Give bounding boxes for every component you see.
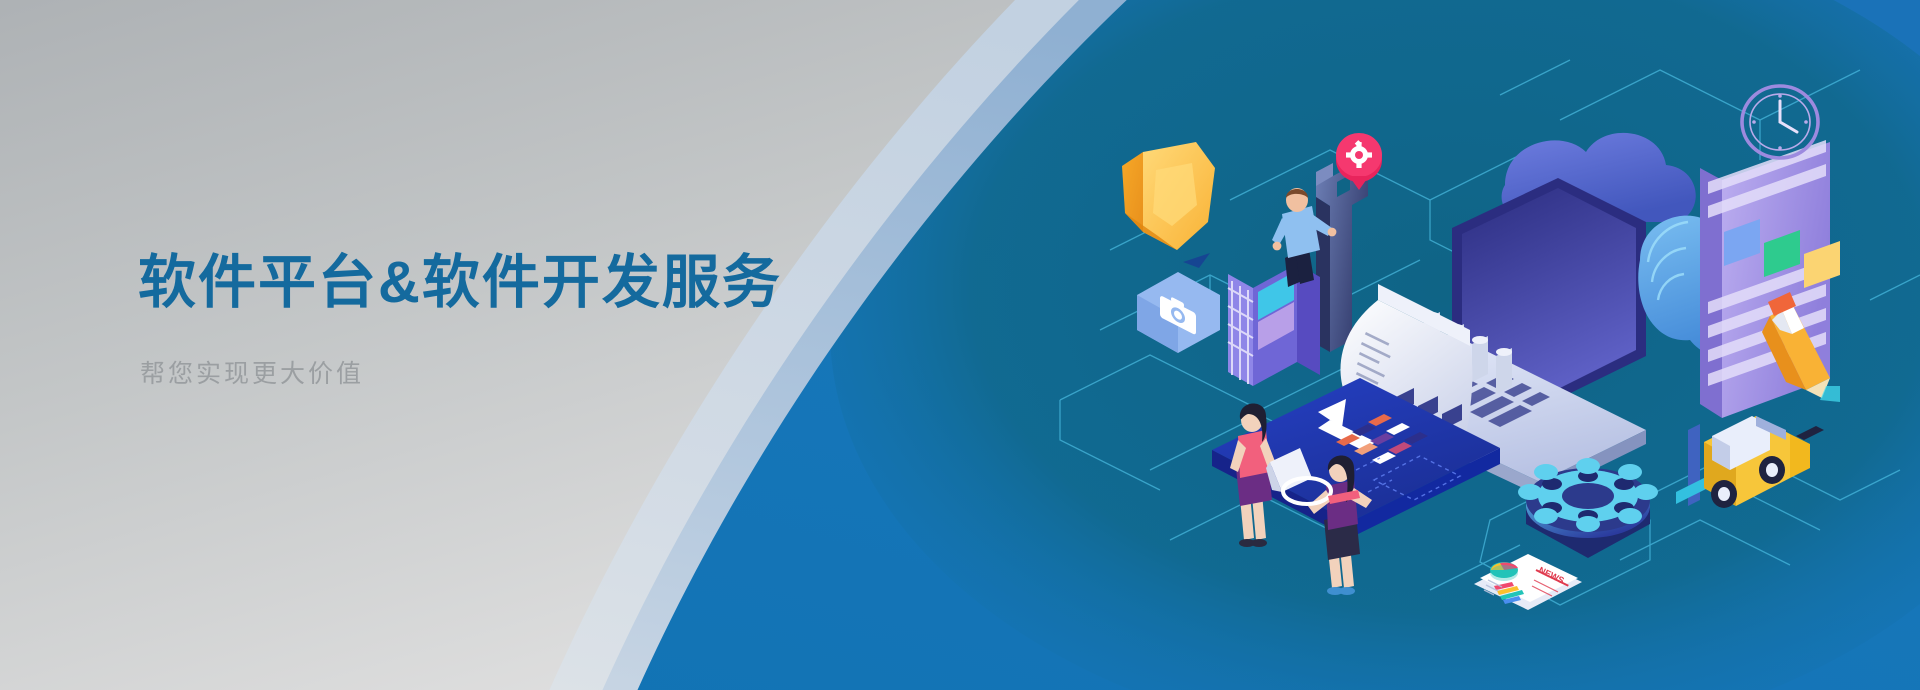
solar-panel-grid: [1228, 264, 1320, 386]
clock-icon: [1742, 86, 1818, 158]
banner-copy: 软件平台&软件开发服务 帮您实现更大价值: [138, 252, 782, 389]
camera-icon-tile: [1137, 253, 1220, 353]
banner-headline: 软件平台&软件开发服务: [138, 252, 782, 315]
forklift-truck: [1676, 416, 1824, 508]
banner-subheadline: 帮您实现更大价值: [140, 359, 782, 389]
large-gear-icon: [1518, 458, 1658, 558]
news-pie-chart: [1490, 562, 1518, 581]
security-shield-icon: [1122, 142, 1215, 250]
hero-banner: NEWS: [0, 0, 1920, 690]
